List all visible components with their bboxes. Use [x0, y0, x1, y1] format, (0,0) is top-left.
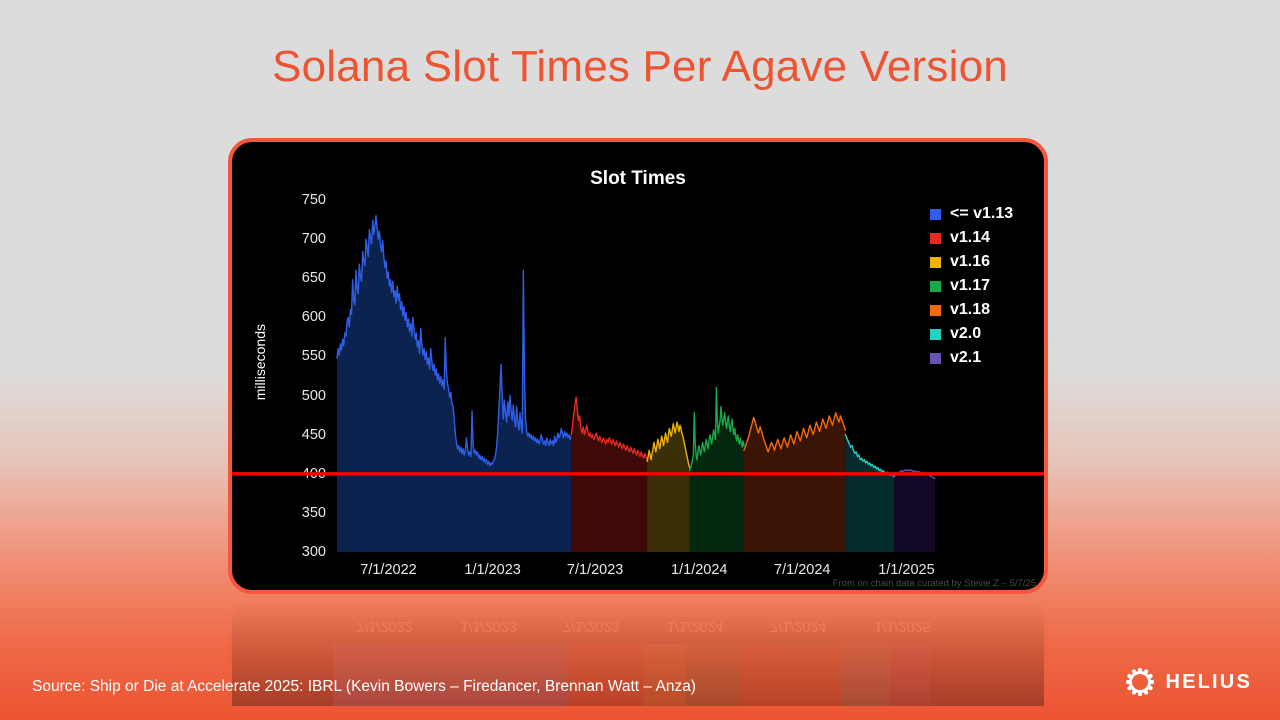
chart-card: Slot Times milliseconds 7507006506005505…	[228, 138, 1048, 594]
legend-item-label: v2.0	[950, 325, 981, 343]
chart-attribution: From on chain data curated by Stevie Z –…	[833, 578, 1036, 589]
legend-item-label: v2.1	[950, 349, 981, 367]
legend-swatch-icon	[930, 257, 941, 268]
legend-item-label: v1.17	[950, 277, 990, 295]
chart-legend: <= v1.13v1.14v1.16v1.17v1.18v2.0v2.1	[930, 202, 1013, 370]
legend-item[interactable]: v2.0	[930, 322, 1013, 346]
legend-item[interactable]: v1.14	[930, 226, 1013, 250]
legend-item-label: <= v1.13	[950, 205, 1013, 223]
legend-item[interactable]: v1.16	[930, 250, 1013, 274]
legend-swatch-icon	[930, 353, 941, 364]
helius-logo-text: HELIUS	[1165, 671, 1252, 694]
legend-item-label: v1.14	[950, 229, 990, 247]
legend-item[interactable]: v1.17	[930, 274, 1013, 298]
legend-swatch-icon	[930, 305, 941, 316]
footer-source-text: Source: Ship or Die at Accelerate 2025: …	[32, 678, 696, 696]
legend-item[interactable]: v1.18	[930, 298, 1013, 322]
legend-item[interactable]: <= v1.13	[930, 202, 1013, 226]
legend-swatch-icon	[930, 209, 941, 220]
legend-item-label: v1.16	[950, 253, 990, 271]
legend-swatch-icon	[930, 233, 941, 244]
legend-item-label: v1.18	[950, 301, 990, 319]
sunburst-icon	[1126, 668, 1154, 696]
legend-swatch-icon	[930, 281, 941, 292]
page-title: Solana Slot Times Per Agave Version	[0, 42, 1280, 92]
legend-swatch-icon	[930, 329, 941, 340]
helius-logo: HELIUS	[1126, 668, 1252, 696]
slot-times-plot	[232, 142, 1044, 590]
legend-item[interactable]: v2.1	[930, 346, 1013, 370]
